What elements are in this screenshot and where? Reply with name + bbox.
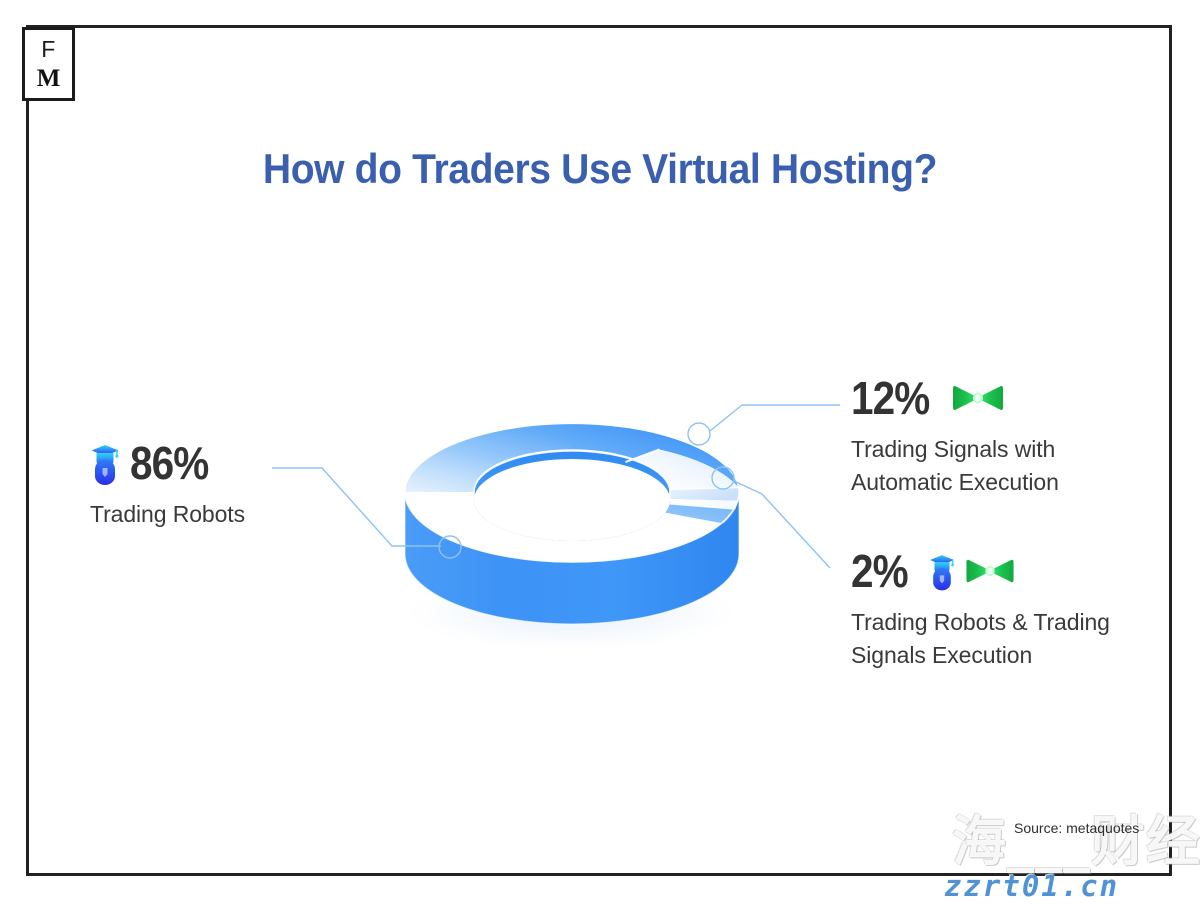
watermark-domain: zzrt01.cn [944, 872, 1119, 901]
logo-letter-f: F [41, 38, 56, 61]
source-note: Source: metaquotes [1014, 820, 1139, 836]
trading-robot-icon [927, 551, 957, 591]
trading-robot-icon [88, 441, 122, 485]
trading-signal-icon [952, 381, 1004, 415]
trading-signal-icon [965, 555, 1015, 587]
callout-value: 2% [851, 548, 908, 594]
callout-label: Trading Robots [90, 498, 388, 531]
callout-label: Trading Signals with Automatic Execution [851, 433, 1161, 500]
callout-value: 86% [130, 440, 208, 486]
callout-trading-robots: 86% Trading Robots [88, 440, 388, 531]
icon-group [88, 441, 122, 485]
callout-value: 12% [851, 375, 929, 421]
callout-value-row: 12% [851, 375, 1161, 421]
page-title: How do Traders Use Virtual Hosting? [256, 142, 944, 196]
callout-robots-and-signals: 2% [851, 548, 1171, 673]
callout-label: Trading Robots & Trading Signals Executi… [851, 606, 1171, 673]
icon-group [927, 551, 1015, 591]
logo-letter-m: M [37, 66, 61, 91]
callout-trading-signals: 12% [851, 375, 1161, 500]
callout-value-row: 86% [88, 440, 388, 486]
brand-logo: F M [22, 27, 75, 101]
callout-value-row: 2% [851, 548, 1171, 594]
icon-group [952, 381, 1004, 415]
